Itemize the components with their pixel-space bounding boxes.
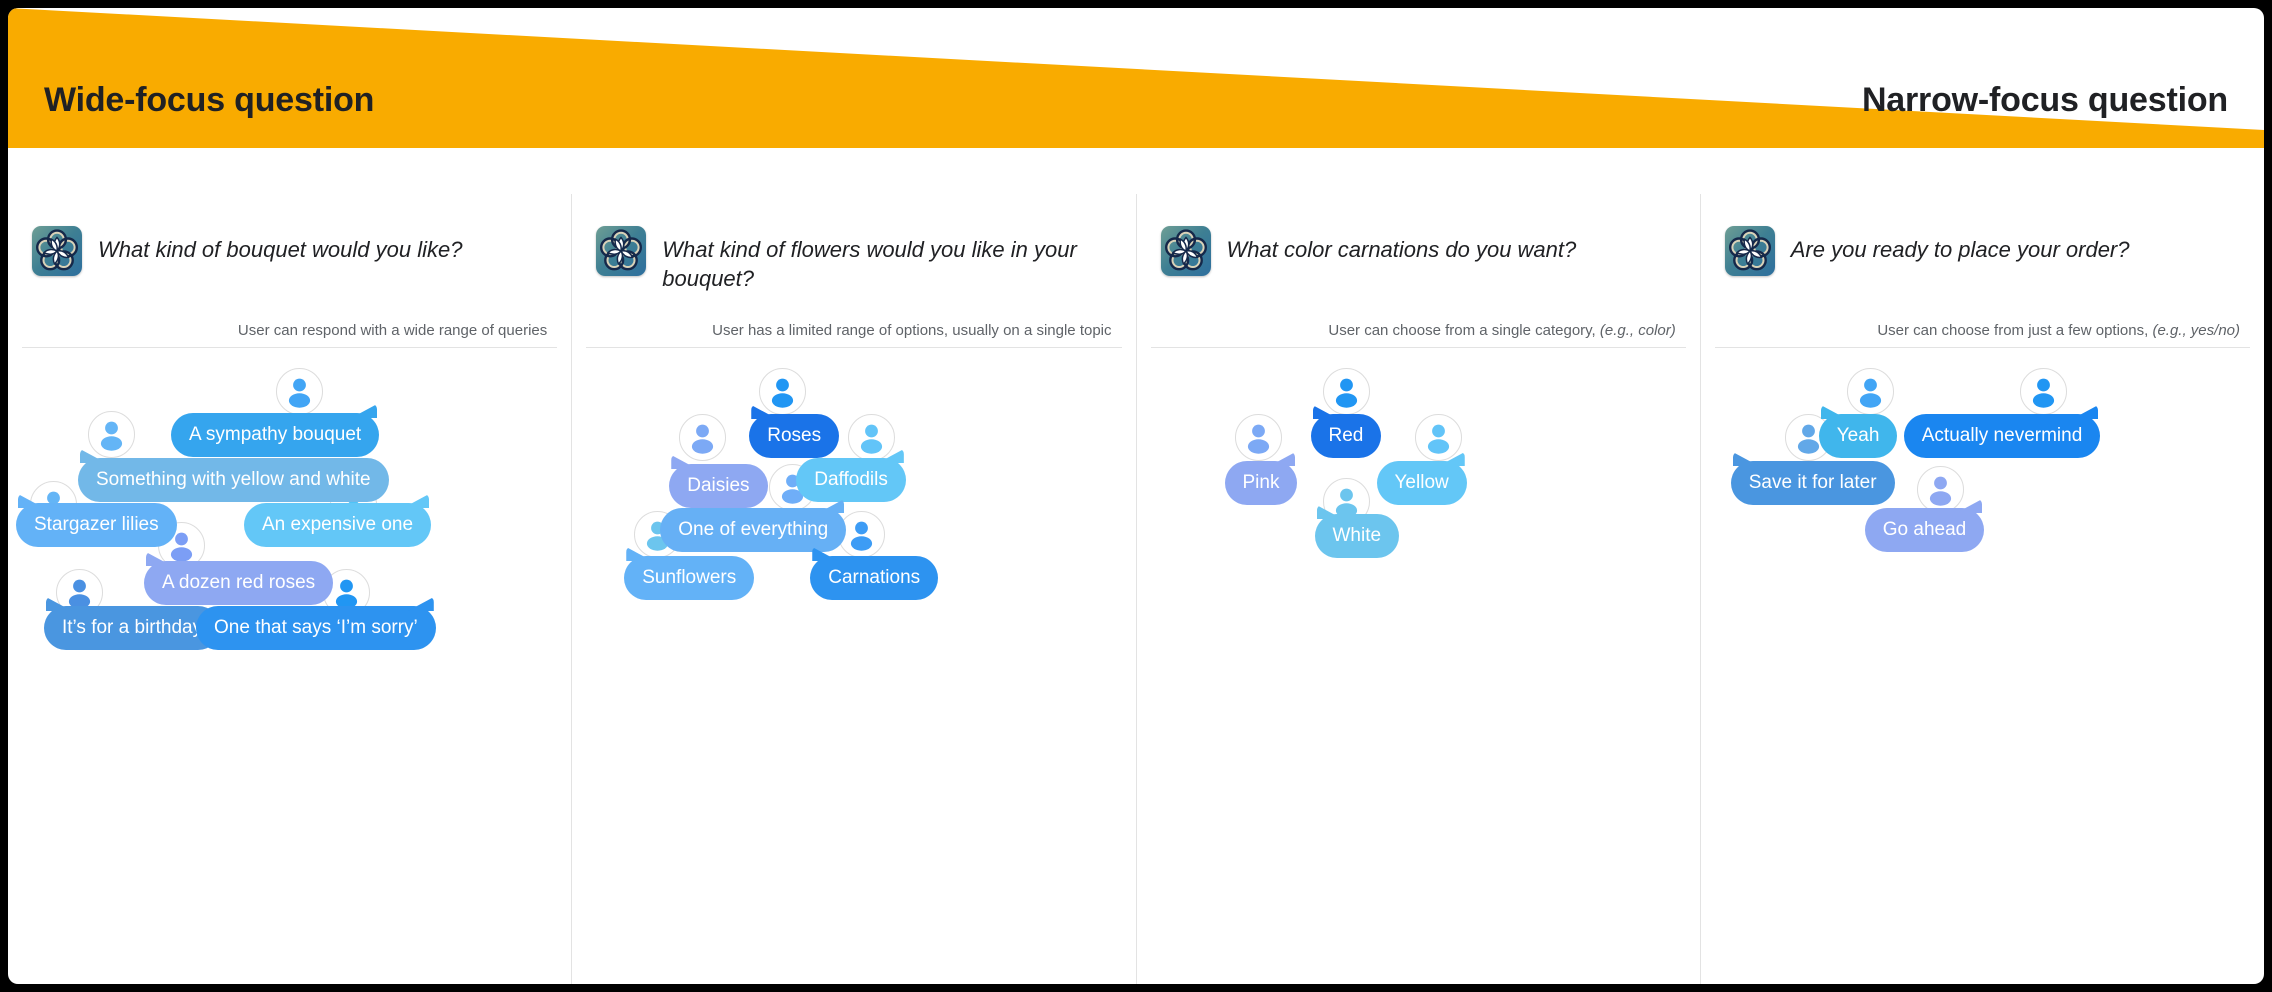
column-caption: User has a limited range of options, usu… <box>586 322 1111 339</box>
wide-focus-label: Wide-focus question <box>44 81 374 120</box>
question-header: What kind of bouquet would you like? <box>22 194 557 312</box>
caption-row: User can respond with a wide range of qu… <box>22 322 557 348</box>
reply-bubble[interactable]: Roses <box>749 414 839 458</box>
caption-plain: User can respond with a wide range of qu… <box>238 322 547 339</box>
caption-row: User has a limited range of options, usu… <box>586 322 1121 348</box>
user-avatar-icon <box>1917 466 1964 513</box>
column-caption: User can choose from just a few options,… <box>1715 322 2240 339</box>
columns-container: What kind of bouquet would you like?User… <box>8 194 2264 984</box>
caption-plain: User can choose from a single category, <box>1328 322 1600 339</box>
reply-bubble[interactable]: Pink <box>1225 461 1298 505</box>
column-col-flowers: What kind of flowers would you like in y… <box>572 194 1136 984</box>
reply-bubble[interactable]: Red <box>1311 414 1382 458</box>
user-avatar-icon <box>2020 368 2067 415</box>
column-caption: User can respond with a wide range of qu… <box>22 322 547 339</box>
focus-spectrum-banner: Wide-focus question Narrow-focus questio… <box>8 8 2264 194</box>
question-header: What kind of flowers would you like in y… <box>586 194 1121 312</box>
user-avatar-icon <box>1415 414 1462 461</box>
reply-bubble[interactable]: One that says ‘I’m sorry’ <box>196 606 436 650</box>
agent-question-text: What color carnations do you want? <box>1227 226 1577 264</box>
reply-bubble[interactable]: Yeah <box>1819 414 1898 458</box>
flower-rosette-icon <box>1725 226 1775 276</box>
user-avatar-icon <box>1847 368 1894 415</box>
reply-bubble[interactable]: White <box>1315 514 1400 558</box>
user-avatar-icon <box>679 414 726 461</box>
user-avatar-icon <box>1235 414 1282 461</box>
agent-question-text: Are you ready to place your order? <box>1791 226 2130 264</box>
reply-bubble[interactable]: Sunflowers <box>624 556 754 600</box>
diagram-card: Wide-focus question Narrow-focus questio… <box>8 8 2264 984</box>
question-header: Are you ready to place your order? <box>1715 194 2250 312</box>
caption-row: User can choose from a single category, … <box>1151 322 1686 348</box>
reply-bubble[interactable]: Save it for later <box>1731 461 1895 505</box>
user-avatar-icon <box>848 414 895 461</box>
reply-bubble[interactable]: Go ahead <box>1865 508 1984 552</box>
reply-cloud: YeahActually nevermindSave it for laterG… <box>1701 356 2264 916</box>
flower-rosette-icon <box>32 226 82 276</box>
column-col-order: Are you ready to place your order?User c… <box>1701 194 2264 984</box>
user-avatar-icon <box>88 411 135 458</box>
reply-bubble[interactable]: One of everything <box>660 508 846 552</box>
caption-row: User can choose from just a few options,… <box>1715 322 2250 348</box>
reply-bubble[interactable]: Daffodils <box>796 458 906 502</box>
flower-rosette-icon <box>1161 226 1211 276</box>
caption-example: (e.g., yes/no) <box>2152 322 2240 339</box>
reply-bubble[interactable]: Carnations <box>810 556 938 600</box>
agent-question-text: What kind of bouquet would you like? <box>98 226 462 264</box>
reply-cloud: A sympathy bouquetSomething with yellow … <box>8 356 571 916</box>
question-header: What color carnations do you want? <box>1151 194 1686 312</box>
caption-plain: User can choose from just a few options, <box>1877 322 2152 339</box>
reply-cloud: RosesDaisiesDaffodilsOne of everythingSu… <box>572 356 1135 916</box>
flower-rosette-icon <box>596 226 646 276</box>
reply-bubble[interactable]: A sympathy bouquet <box>171 413 379 457</box>
user-avatar-icon <box>276 368 323 415</box>
reply-bubble[interactable]: It’s for a birthday <box>44 606 220 650</box>
narrow-focus-label: Narrow-focus question <box>1862 81 2228 120</box>
reply-bubble[interactable]: Something with yellow and white <box>78 458 389 502</box>
caption-plain: User has a limited range of options, usu… <box>712 322 1111 339</box>
reply-bubble[interactable]: Actually nevermind <box>1904 414 2101 458</box>
column-caption: User can choose from a single category, … <box>1151 322 1676 339</box>
reply-bubble[interactable]: Stargazer lilies <box>16 503 177 547</box>
column-col-color: What color carnations do you want?User c… <box>1137 194 1701 984</box>
reply-cloud: RedPinkYellowWhite <box>1137 356 1700 916</box>
reply-bubble[interactable]: Daisies <box>669 464 767 508</box>
user-avatar-icon <box>759 368 806 415</box>
reply-bubble[interactable]: A dozen red roses <box>144 561 333 605</box>
user-avatar-icon <box>1323 368 1370 415</box>
column-col-bouquet: What kind of bouquet would you like?User… <box>8 194 572 984</box>
agent-question-text: What kind of flowers would you like in y… <box>662 226 1092 293</box>
reply-bubble[interactable]: An expensive one <box>244 503 431 547</box>
caption-example: (e.g., color) <box>1600 322 1676 339</box>
reply-bubble[interactable]: Yellow <box>1377 461 1467 505</box>
